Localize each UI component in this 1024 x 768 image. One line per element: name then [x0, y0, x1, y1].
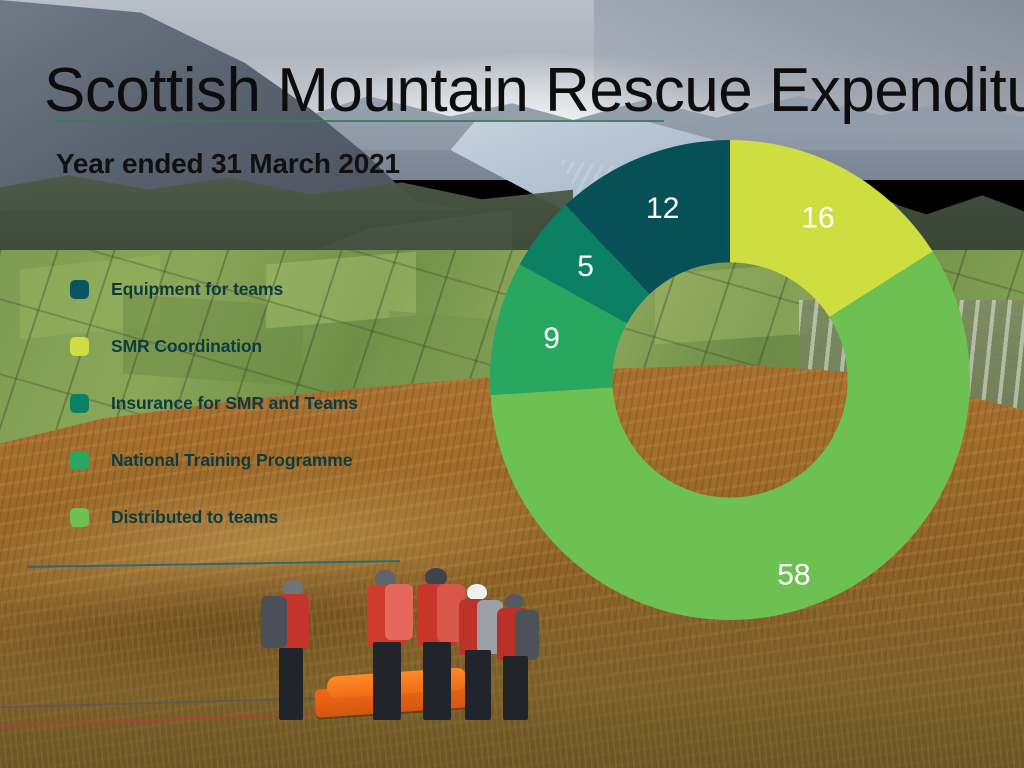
legend-swatch-icon [70, 280, 89, 299]
page-subtitle: Year ended 31 March 2021 [56, 148, 400, 180]
chart-legend: Equipment for teams SMR Coordination Ins… [70, 278, 470, 563]
page-title: Scottish Mountain Rescue Expenditure [44, 58, 1024, 123]
legend-item-national-training-programme[interactable]: National Training Programme [70, 449, 470, 471]
legend-label: Distributed to teams [111, 507, 278, 528]
legend-swatch-icon [70, 508, 89, 527]
donut-chart: 16589512 [490, 140, 970, 620]
legend-item-insurance-for-smr-and-teams[interactable]: Insurance for SMR and Teams [70, 392, 470, 414]
donut-slice-group [490, 140, 970, 620]
legend-swatch-icon [70, 394, 89, 413]
infographic-slide: Scottish Mountain Rescue Expenditure Yea… [0, 0, 1024, 768]
legend-swatch-icon [70, 451, 89, 470]
legend-swatch-icon [70, 337, 89, 356]
donut-slice-value-label: 58 [777, 559, 810, 592]
legend-item-equipment-for-teams[interactable]: Equipment for teams [70, 278, 470, 300]
legend-item-smr-coordination[interactable]: SMR Coordination [70, 335, 470, 357]
legend-label: Insurance for SMR and Teams [111, 393, 358, 414]
donut-slice-value-label: 16 [801, 202, 834, 235]
legend-label: Equipment for teams [111, 279, 283, 300]
donut-chart-svg: 16589512 [490, 140, 970, 620]
title-underline [56, 120, 664, 122]
legend-label: National Training Programme [111, 450, 352, 471]
donut-slice-value-label: 12 [646, 192, 679, 225]
legend-item-distributed-to-teams[interactable]: Distributed to teams [70, 506, 470, 528]
rescuer [261, 580, 315, 720]
donut-slice-value-label: 5 [577, 250, 594, 283]
legend-label: SMR Coordination [111, 336, 262, 357]
donut-slice-value-label: 9 [543, 322, 560, 355]
